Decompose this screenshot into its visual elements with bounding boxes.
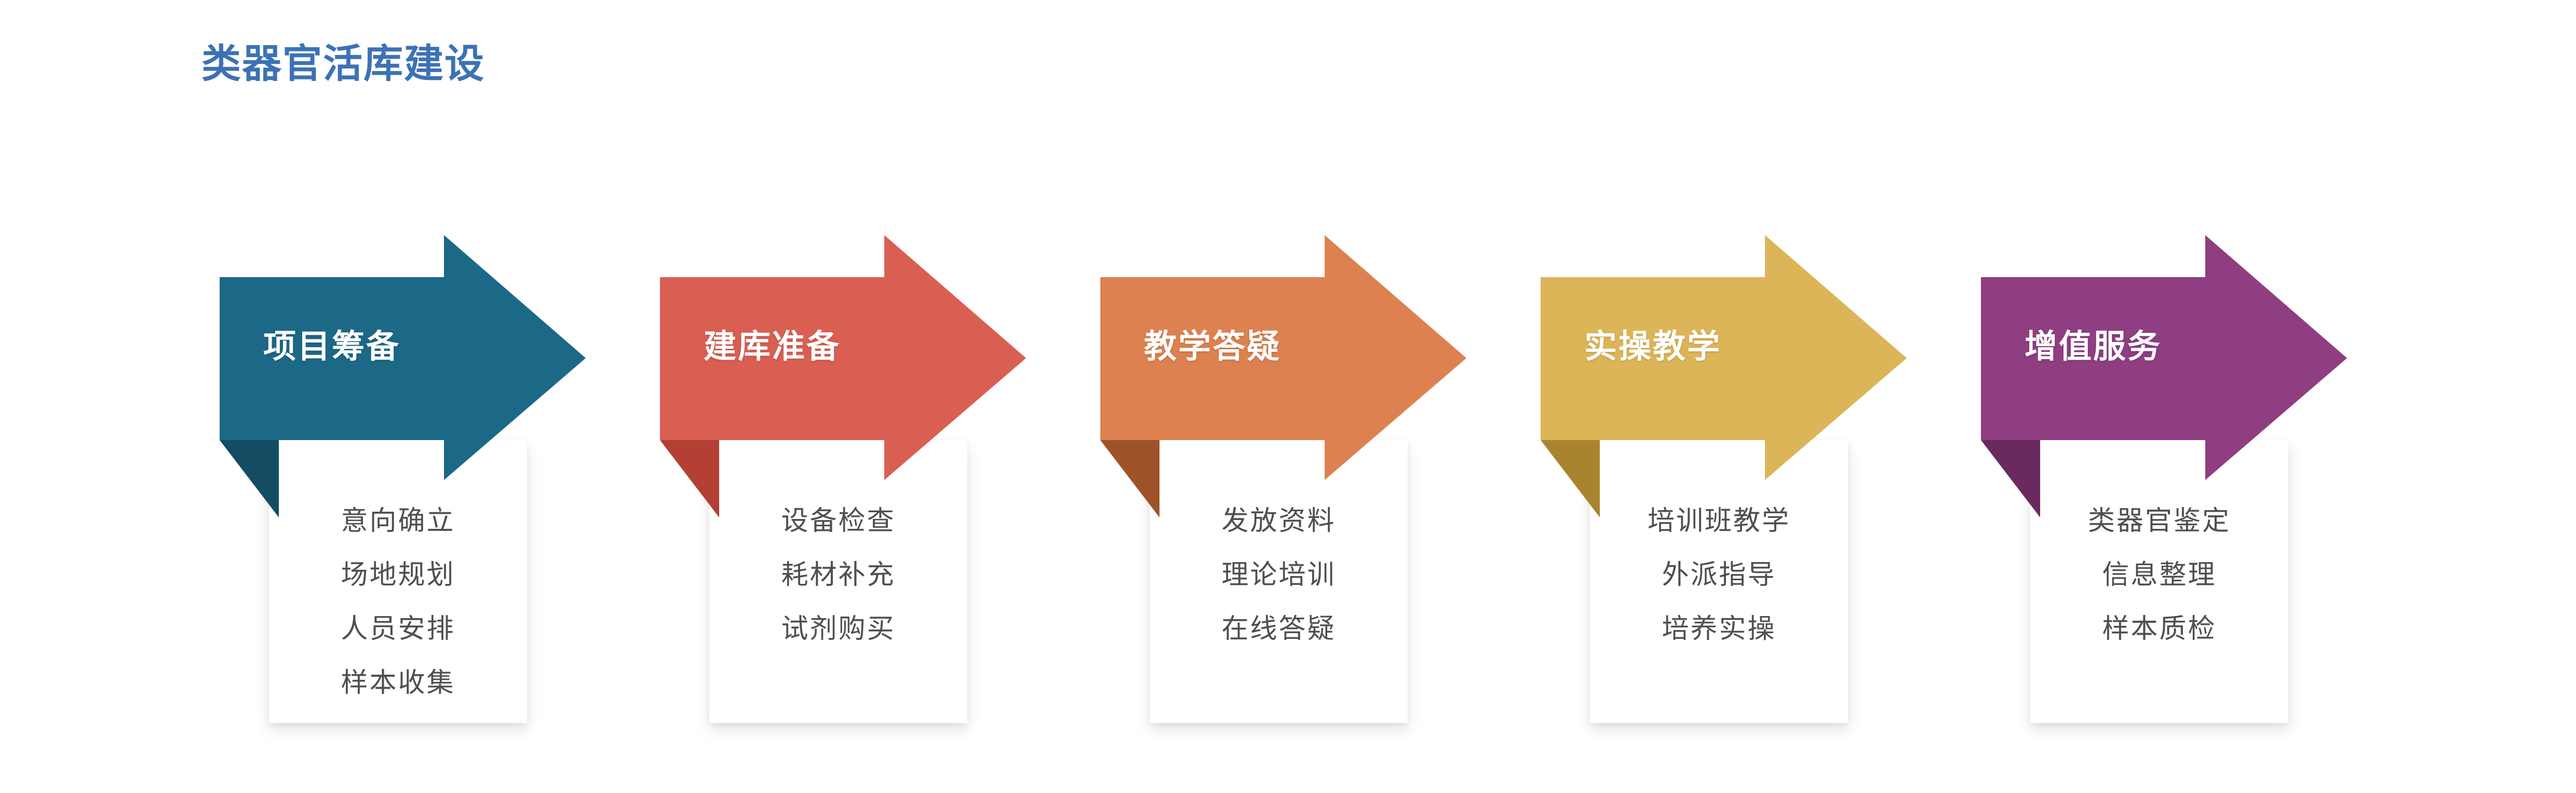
- step-item: 场地规划: [269, 548, 527, 602]
- step-arrow[interactable]: [1541, 228, 1935, 524]
- step-label: 项目筹备: [220, 320, 444, 367]
- step-item: 信息整理: [2030, 548, 2288, 602]
- step-label: 建库准备: [660, 320, 884, 367]
- slide-canvas: 类器官活库建设 项目筹备意向确立场地规划人员安排样本收集建库准备设备检查耗材补充…: [0, 0, 2576, 793]
- process-step-4[interactable]: 实操教学培训班教学外派指导培养实操: [1541, 0, 1935, 793]
- step-item: 在线答疑: [1150, 602, 1408, 656]
- step-arrow[interactable]: [1100, 228, 1495, 524]
- step-item: 外派指导: [1590, 548, 1848, 602]
- step-item: 理论培训: [1150, 548, 1408, 602]
- step-item-list: 意向确立场地规划人员安排样本收集: [269, 494, 527, 710]
- step-item-list: 设备检查耗材补充试剂购买: [709, 494, 967, 656]
- process-step-3[interactable]: 教学答疑发放资料理论培训在线答疑: [1100, 0, 1495, 793]
- step-label: 增值服务: [1981, 320, 2205, 367]
- step-item: 设备检查: [709, 494, 967, 548]
- step-arrow[interactable]: [660, 228, 1055, 524]
- step-item: 培养实操: [1590, 602, 1848, 656]
- step-label: 教学答疑: [1100, 320, 1325, 367]
- step-item-list: 培训班教学外派指导培养实操: [1590, 494, 1848, 656]
- step-arrow[interactable]: [1981, 228, 2376, 524]
- step-arrow[interactable]: [220, 228, 614, 524]
- step-item: 样本质检: [2030, 602, 2288, 656]
- step-item: 试剂购买: [709, 602, 967, 656]
- step-item: 样本收集: [269, 656, 527, 710]
- step-label: 实操教学: [1541, 320, 1765, 367]
- step-item: 耗材补充: [709, 548, 967, 602]
- process-step-5[interactable]: 增值服务类器官鉴定信息整理样本质检: [1981, 0, 2376, 793]
- step-item: 类器官鉴定: [2030, 494, 2288, 548]
- process-step-1[interactable]: 项目筹备意向确立场地规划人员安排样本收集: [220, 0, 614, 793]
- step-item-list: 发放资料理论培训在线答疑: [1150, 494, 1408, 656]
- step-item: 发放资料: [1150, 494, 1408, 548]
- step-item: 培训班教学: [1590, 494, 1848, 548]
- step-item: 人员安排: [269, 602, 527, 656]
- step-item: 意向确立: [269, 494, 527, 548]
- process-step-2[interactable]: 建库准备设备检查耗材补充试剂购买: [660, 0, 1055, 793]
- step-item-list: 类器官鉴定信息整理样本质检: [2030, 494, 2288, 656]
